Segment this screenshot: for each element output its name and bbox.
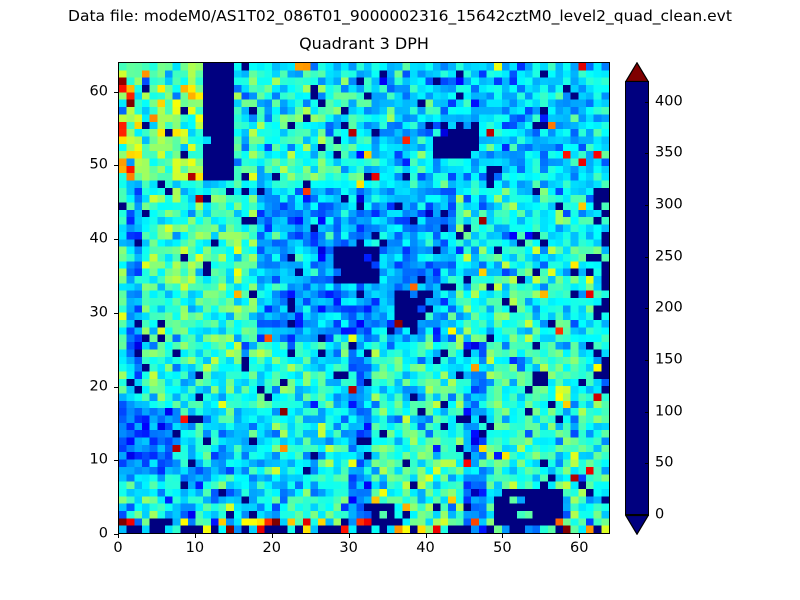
figure-canvas: Data file: modeM0/AS1T02_086T01_90000023… — [0, 0, 800, 600]
x-tick-label: 60 — [570, 540, 588, 557]
x-tick-label: 20 — [263, 540, 281, 557]
x-tick-mark — [426, 534, 427, 538]
colorbar-tick-mark — [645, 360, 649, 361]
y-tick-label: 50 — [56, 157, 108, 174]
x-tick-label: 40 — [416, 540, 434, 557]
colorbar-tick-label: 250 — [655, 248, 683, 265]
y-tick-label: 0 — [56, 526, 108, 543]
detector-pixel-heatmap[interactable] — [119, 63, 609, 533]
x-tick-mark — [579, 534, 580, 538]
x-tick-mark — [502, 534, 503, 538]
colorbar-extend-max-arrow — [625, 62, 649, 82]
x-tick-label: 0 — [113, 540, 122, 557]
colorbar-gradient — [626, 82, 648, 514]
colorbar-tick-mark — [645, 153, 649, 154]
y-tick-mark — [114, 165, 118, 166]
colorbar-tick-mark — [645, 412, 649, 413]
colorbar-tick-label: 0 — [655, 507, 664, 524]
colorbar-tick-label: 400 — [655, 93, 683, 110]
y-tick-label: 30 — [56, 304, 108, 321]
y-tick-label: 40 — [56, 231, 108, 248]
y-tick-label: 20 — [56, 378, 108, 395]
x-tick-mark — [118, 534, 119, 538]
colorbar-tick-label: 350 — [655, 145, 683, 162]
y-tick-mark — [114, 460, 118, 461]
colorbar-tick-mark — [645, 463, 649, 464]
colorbar-tick-label: 300 — [655, 197, 683, 214]
y-tick-label: 60 — [56, 83, 108, 100]
data-file-suptitle: Data file: modeM0/AS1T02_086T01_90000023… — [0, 7, 800, 26]
x-tick-label: 50 — [493, 540, 511, 557]
x-tick-mark — [349, 534, 350, 538]
heatmap-axes[interactable] — [118, 62, 610, 534]
y-tick-mark — [114, 534, 118, 535]
colorbar-tick-label: 100 — [655, 403, 683, 420]
y-tick-mark — [114, 313, 118, 314]
y-tick-mark — [114, 92, 118, 93]
colorbar-tick-label: 50 — [655, 455, 673, 472]
colorbar-tick-label: 200 — [655, 300, 683, 317]
colorbar-tick-label: 150 — [655, 352, 683, 369]
colorbar-tick-mark — [645, 257, 649, 258]
x-tick-label: 30 — [339, 540, 357, 557]
x-tick-mark — [272, 534, 273, 538]
colorbar-extend-min-arrow — [625, 515, 649, 535]
colorbar-gradient-body[interactable] — [625, 81, 649, 515]
y-tick-label: 10 — [56, 452, 108, 469]
colorbar-tick-mark — [645, 308, 649, 309]
y-tick-mark — [114, 239, 118, 240]
colorbar-tick-mark — [645, 515, 649, 516]
x-tick-mark — [195, 534, 196, 538]
x-tick-label: 10 — [186, 540, 204, 557]
colorbar-tick-mark — [645, 205, 649, 206]
y-tick-mark — [114, 387, 118, 388]
colorbar-tick-mark — [645, 102, 649, 103]
page-title: Quadrant 3 DPH — [118, 34, 610, 54]
